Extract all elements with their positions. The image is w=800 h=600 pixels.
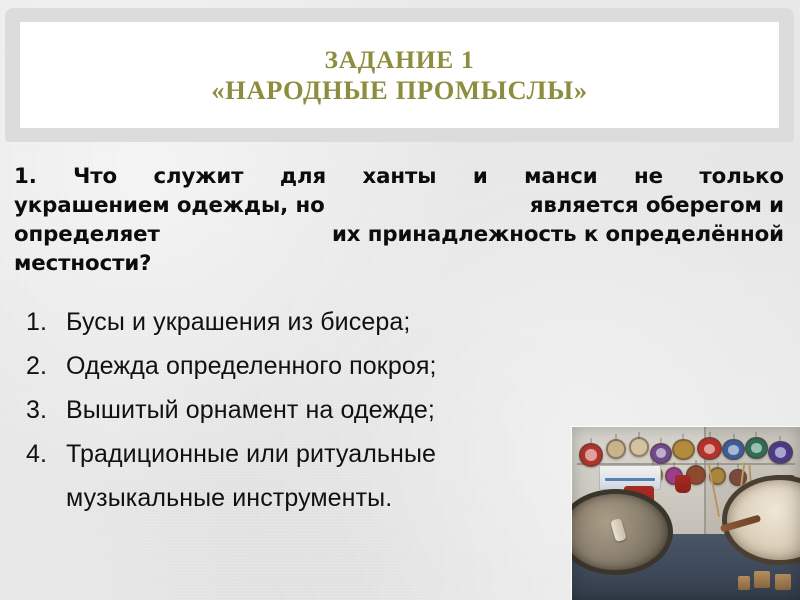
list-item-label: Вышитый орнамент на одежде; — [66, 388, 626, 432]
wooden-drum-stand — [775, 574, 791, 590]
question-line-1-word-7: манси — [524, 162, 598, 191]
beaded-ornament-icon — [722, 439, 744, 460]
question-paragraph: 1. Что служит для ханты и манси не тольк… — [14, 162, 784, 278]
list-item-label-line-1: Традиционные или ритуальные — [66, 432, 626, 476]
beaded-ornament-icon — [606, 439, 626, 459]
question-line-1-word-3: служит — [153, 162, 243, 191]
list-item[interactable]: 4. Традиционные или ритуальные музыкальн… — [26, 432, 626, 520]
beaded-ornament-icon — [672, 439, 694, 460]
question-line-3-part-1: определяет — [14, 220, 160, 249]
slide-canvas: ЗАДАНИЕ 1 «НАРОДНЫЕ ПРОМЫСЛЫ» 1. Что слу… — [0, 0, 800, 600]
beaded-ornament-icon — [768, 441, 793, 464]
list-item-number: 4. — [26, 432, 66, 476]
photo-scene — [572, 427, 800, 600]
answer-list: 1. Бусы и украшения из бисера; 2. Одежда… — [26, 300, 626, 520]
question-line-1: 1. Что служит для ханты и манси не тольк… — [14, 162, 784, 191]
question-line-1-word-6: и — [473, 162, 488, 191]
beaded-ornament-icon — [629, 437, 649, 457]
question-line-3-part-2: их принадлежность к определённой — [332, 220, 784, 249]
question-line-1-word-4: для — [280, 162, 326, 191]
traditional-costume-photo — [572, 427, 800, 600]
question-line-2-part-1: украшением одежды, но — [14, 191, 325, 220]
question-line-3: определяет их принадлежность к определён… — [14, 220, 784, 249]
wooden-drum-stand — [738, 576, 749, 590]
list-item-number: 3. — [26, 388, 66, 432]
list-item-label: Одежда определенного покроя; — [66, 344, 626, 388]
page-title-line-1: ЗАДАНИЕ 1 — [325, 44, 475, 75]
wooden-drum-stand — [754, 571, 770, 588]
list-item-label-line-2: музыкальные инструменты. — [66, 476, 626, 520]
title-frame: ЗАДАНИЕ 1 «НАРОДНЫЕ ПРОМЫСЛЫ» — [5, 8, 794, 142]
question-line-1-word-1: 1. — [14, 162, 37, 191]
list-item[interactable]: 1. Бусы и украшения из бисера; — [26, 300, 626, 344]
question-line-1-word-8: не — [634, 162, 663, 191]
title-box: ЗАДАНИЕ 1 «НАРОДНЫЕ ПРОМЫСЛЫ» — [20, 22, 779, 128]
list-item[interactable]: 3. Вышитый орнамент на одежде; — [26, 388, 626, 432]
list-item[interactable]: 2. Одежда определенного покроя; — [26, 344, 626, 388]
list-item-number: 2. — [26, 344, 66, 388]
question-line-1-word-5: ханты — [362, 162, 436, 191]
list-item-label: Бусы и украшения из бисера; — [66, 300, 626, 344]
question-line-2: украшением одежды, но является оберегом … — [14, 191, 784, 220]
beaded-ornament-icon — [745, 437, 767, 458]
question-line-1-word-9: только — [699, 162, 784, 191]
question-line-1-word-2: Что — [73, 162, 117, 191]
hanging-garment — [675, 475, 691, 492]
question-line-2-part-2: является оберегом и — [530, 191, 784, 220]
list-item-label: Традиционные или ритуальные музыкальные … — [66, 432, 626, 520]
list-item-number: 1. — [26, 300, 66, 344]
page-title-line-2: «НАРОДНЫЕ ПРОМЫСЛЫ» — [211, 75, 588, 106]
question-line-4: местности? — [14, 249, 784, 278]
